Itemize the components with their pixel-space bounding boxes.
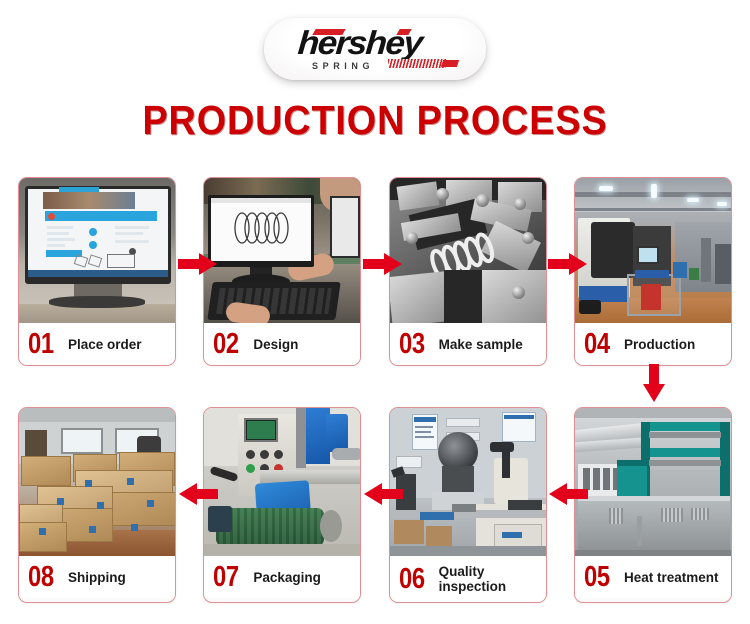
- step-02-photo: [204, 178, 360, 323]
- flow-arrow-01-to-02: [178, 253, 218, 275]
- step-01-label: 01 Place order: [19, 323, 175, 365]
- logo-spring-coil-icon: [388, 59, 446, 68]
- logo-subtitle: SPRING: [312, 61, 374, 71]
- step-05-number: 05: [584, 563, 611, 592]
- logo-header: hershey SPRING: [0, 18, 750, 80]
- step-06-text-line1: Quality: [439, 564, 485, 579]
- process-step-card-07[interactable]: 07 Packaging: [203, 407, 361, 603]
- step-04-text: Production: [624, 337, 695, 352]
- step-01-number: 01: [28, 330, 55, 359]
- step-08-text: Shipping: [68, 570, 126, 585]
- flow-arrow-02-to-03: [363, 253, 403, 275]
- step-05-label: 05 Heat treatment: [575, 556, 731, 598]
- step-03-number: 03: [399, 330, 426, 359]
- step-06-text-line2: inspection: [439, 579, 507, 594]
- logo-mark: hershey SPRING: [290, 29, 460, 69]
- step-02-text: Design: [253, 337, 298, 352]
- step-01-text: Place order: [68, 337, 142, 352]
- process-step-card-02[interactable]: 02 Design: [203, 177, 361, 366]
- step-04-photo: [575, 178, 731, 323]
- process-step-card-05[interactable]: 05 Heat treatment: [574, 407, 732, 603]
- step-07-label: 07 Packaging: [204, 556, 360, 598]
- step-08-photo: [19, 408, 175, 556]
- flow-arrow-04-to-05: [643, 364, 665, 402]
- flow-arrow-05-to-06: [548, 483, 588, 505]
- step-04-label: 04 Production: [575, 323, 731, 365]
- process-step-card-03[interactable]: 03 Make sample: [389, 177, 547, 366]
- process-step-card-01[interactable]: 01 Place order: [18, 177, 176, 366]
- page-title: PRODUCTION PROCESS: [30, 98, 720, 142]
- logo-coil-tail-icon: [441, 60, 459, 67]
- step-02-label: 02 Design: [204, 323, 360, 365]
- step-05-photo: [575, 408, 731, 556]
- step-07-text: Packaging: [253, 570, 321, 585]
- step-07-photo: [204, 408, 360, 556]
- step-05-text: Heat treatment: [624, 570, 719, 585]
- step-06-photo: [390, 408, 546, 556]
- step-06-text: Quality inspection: [439, 564, 507, 594]
- logo-badge: hershey SPRING: [264, 18, 486, 80]
- process-step-card-08[interactable]: 08 Shipping: [18, 407, 176, 603]
- flow-arrow-07-to-08: [178, 483, 218, 505]
- step-07-number: 07: [213, 563, 240, 592]
- step-08-number: 08: [28, 563, 55, 592]
- flow-arrow-03-to-04: [548, 253, 588, 275]
- process-step-card-06[interactable]: 06 Quality inspection: [389, 407, 547, 603]
- logo-wordmark: hershey: [297, 26, 423, 60]
- process-step-card-04[interactable]: 04 Production: [574, 177, 732, 366]
- step-06-number: 06: [399, 565, 426, 594]
- step-08-label: 08 Shipping: [19, 556, 175, 598]
- step-01-photo: [19, 178, 175, 323]
- step-04-number: 04: [584, 330, 611, 359]
- step-06-label: 06 Quality inspection: [390, 556, 546, 602]
- step-02-number: 02: [213, 330, 240, 359]
- step-03-text: Make sample: [439, 337, 523, 352]
- step-03-label: 03 Make sample: [390, 323, 546, 365]
- flow-arrow-06-to-07: [363, 483, 403, 505]
- step-03-photo: [390, 178, 546, 323]
- process-row-2: 08 Shipping: [18, 407, 732, 603]
- spring-cad-drawing: [230, 210, 292, 246]
